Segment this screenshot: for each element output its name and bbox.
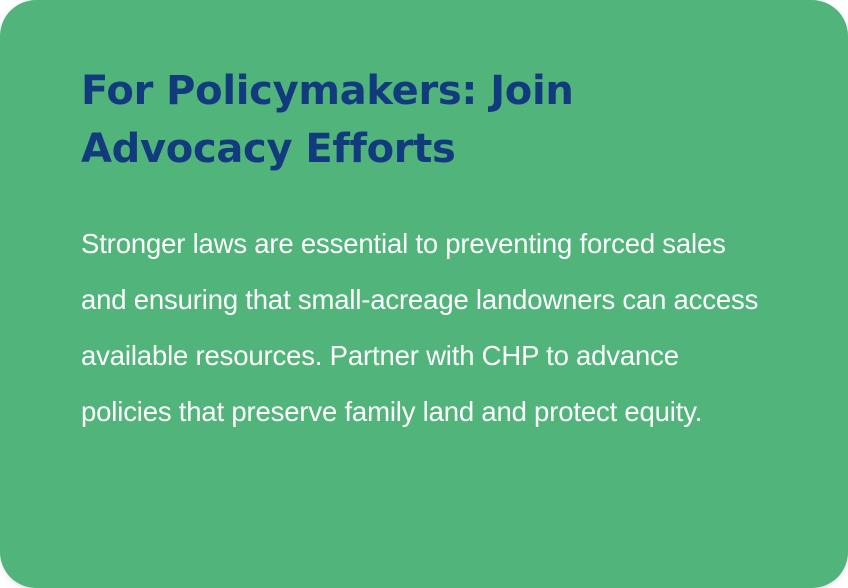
card-body-text: Stronger laws are essential to preventin… — [81, 216, 768, 440]
advocacy-callout-card: For Policymakers: Join Advocacy Efforts … — [0, 0, 848, 588]
page-canvas: For Policymakers: Join Advocacy Efforts … — [0, 0, 848, 588]
card-heading: For Policymakers: Join Advocacy Efforts — [81, 62, 641, 178]
